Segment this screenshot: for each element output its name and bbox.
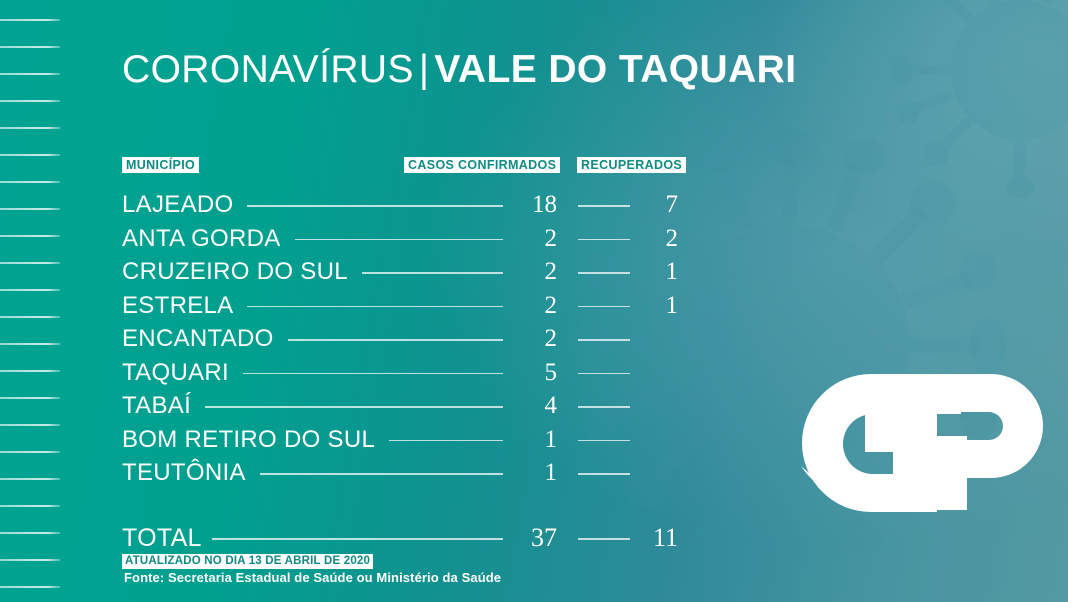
- infographic-stage: CORONAVÍRUS|VALE DO TAQUARI MUNICÍPIO CA…: [0, 0, 1068, 602]
- row-dash: [578, 440, 630, 442]
- total-confirmed-value: 37: [487, 522, 557, 554]
- column-header-municipality: MUNICÍPIO: [122, 157, 199, 173]
- total-recovered-value: 11: [632, 522, 678, 554]
- table-row: ANTA GORDA22: [0, 224, 1068, 254]
- row-confirmed-value: 2: [487, 224, 557, 254]
- row-confirmed-value: 5: [487, 358, 557, 388]
- row-dash: [578, 205, 630, 207]
- row-leader-line: [243, 373, 503, 375]
- total-label: TOTAL: [122, 522, 202, 554]
- row-city: ESTRELA: [122, 291, 233, 321]
- source-note: Fonte: Secretaria Estadual de Saúde ou M…: [124, 570, 501, 585]
- row-city: CRUZEIRO DO SUL: [122, 257, 348, 287]
- table-row-total: TOTAL 37 11: [0, 522, 1068, 554]
- row-dash: [578, 239, 630, 241]
- table-row: ESTRELA21: [0, 291, 1068, 321]
- row-confirmed-value: 2: [487, 324, 557, 354]
- row-leader-line: [247, 306, 503, 308]
- row-dash: [578, 339, 630, 341]
- row-dash: [578, 373, 630, 375]
- row-leader-line: [389, 440, 503, 442]
- row-leader-line: [295, 239, 503, 241]
- row-confirmed-value: 1: [487, 458, 557, 488]
- row-city: TABAÍ: [122, 391, 191, 421]
- row-leader-line: [205, 406, 503, 408]
- row-dash: [578, 306, 630, 308]
- row-dash: [578, 473, 630, 475]
- row-confirmed-value: 2: [487, 291, 557, 321]
- row-dash: [578, 406, 630, 408]
- row-recovered-value: 2: [632, 224, 678, 254]
- row-leader-line: [362, 272, 503, 274]
- row-confirmed-value: 4: [487, 391, 557, 421]
- row-confirmed-value: 2: [487, 257, 557, 287]
- row-confirmed-value: 18: [487, 190, 557, 220]
- table-row: LAJEADO187: [0, 190, 1068, 220]
- updated-badge: ATUALIZADO NO DIA 13 DE ABRIL DE 2020: [122, 554, 373, 569]
- row-city: ANTA GORDA: [122, 224, 281, 254]
- total-dash: [578, 538, 630, 540]
- table-row: CRUZEIRO DO SUL21: [0, 257, 1068, 287]
- gp-logo: [795, 368, 1053, 520]
- row-city: TAQUARI: [122, 358, 229, 388]
- row-recovered-value: 7: [632, 190, 678, 220]
- column-header-confirmed: CASOS CONFIRMADOS: [404, 157, 560, 173]
- row-city: LAJEADO: [122, 190, 233, 220]
- row-dash: [578, 272, 630, 274]
- row-leader-line: [247, 205, 503, 207]
- row-leader-line: [288, 339, 503, 341]
- row-leader-line: [260, 473, 503, 475]
- row-city: TEUTÔNIA: [122, 458, 246, 488]
- row-confirmed-value: 1: [487, 425, 557, 455]
- total-leader-line: [212, 538, 503, 540]
- column-header-recovered: RECUPERADOS: [577, 157, 686, 173]
- row-city: BOM RETIRO DO SUL: [122, 425, 375, 455]
- row-recovered-value: 1: [632, 257, 678, 287]
- row-city: ENCANTADO: [122, 324, 274, 354]
- table-row: ENCANTADO2: [0, 324, 1068, 354]
- row-recovered-value: 1: [632, 291, 678, 321]
